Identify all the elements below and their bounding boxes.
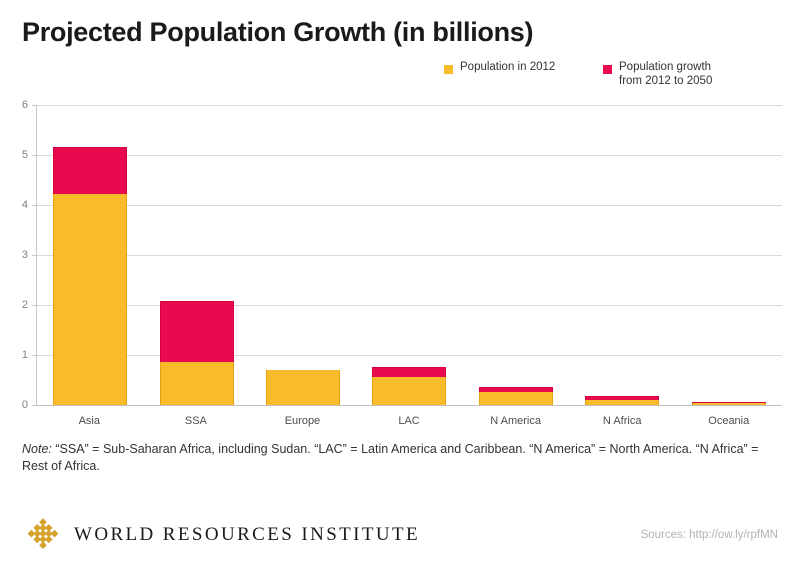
- bar-segment-growth[interactable]: [372, 367, 446, 377]
- bar-group[interactable]: [250, 105, 356, 405]
- bar-group[interactable]: [356, 105, 462, 405]
- legend-item-population-2012: Population in 2012: [444, 61, 555, 75]
- bar-segment-population[interactable]: [479, 392, 553, 406]
- chart-note: Note: “SSA” = Sub-Saharan Africa, includ…: [22, 441, 774, 474]
- bar-segment-population[interactable]: [692, 403, 766, 405]
- bar-group[interactable]: [676, 105, 782, 405]
- note-text: “SSA” = Sub-Saharan Africa, including Su…: [22, 442, 758, 473]
- y-axis: 0123456: [0, 105, 36, 405]
- bar-segment-population[interactable]: [266, 370, 340, 405]
- bar-segment-growth[interactable]: [160, 301, 234, 362]
- x-tick-label: Asia: [36, 407, 143, 427]
- bar-group[interactable]: [463, 105, 569, 405]
- bar-stack[interactable]: [585, 396, 659, 405]
- bar-stack[interactable]: [692, 402, 766, 405]
- legend-item-population-growth: Population growth from 2012 to 2050: [603, 61, 712, 88]
- bar-stack[interactable]: [266, 370, 340, 405]
- bar-stack[interactable]: [479, 387, 553, 405]
- legend-item-label: Population in 2012: [460, 61, 555, 75]
- bar-stack[interactable]: [160, 301, 234, 405]
- y-tick-label: 0: [22, 399, 28, 411]
- bar-segment-population[interactable]: [53, 194, 127, 406]
- bar-series: [37, 105, 782, 405]
- x-tick-label: Oceania: [675, 407, 782, 427]
- y-tick-label: 1: [22, 349, 28, 361]
- wri-wordmark: WORLD RESOURCES INSTITUTE: [74, 524, 420, 546]
- y-tick-label: 6: [22, 99, 28, 111]
- page-title: Projected Population Growth (in billions…: [22, 17, 533, 48]
- bar-segment-growth[interactable]: [53, 147, 127, 194]
- bar-group[interactable]: [569, 105, 675, 405]
- wri-diamond-lattice-icon: [26, 518, 60, 552]
- x-axis: AsiaSSAEuropeLACN AmericaN AfricaOceania: [36, 407, 782, 427]
- wri-logo: WORLD RESOURCES INSTITUTE: [26, 518, 420, 552]
- y-tick-label: 3: [22, 249, 28, 261]
- footer: WORLD RESOURCES INSTITUTE Sources: http:…: [0, 505, 800, 565]
- x-tick-label: N America: [462, 407, 569, 427]
- legend-square-icon: [444, 65, 453, 74]
- y-tick-label: 5: [22, 149, 28, 161]
- x-tick-label: SSA: [143, 407, 250, 427]
- note-label: Note:: [22, 442, 52, 456]
- y-tick-label: 4: [22, 199, 28, 211]
- x-tick-label: N Africa: [569, 407, 676, 427]
- y-tickmark: [32, 405, 37, 406]
- chart-plot: 0123456 AsiaSSAEuropeLACN AmericaN Afric…: [0, 105, 800, 435]
- bar-segment-population[interactable]: [160, 362, 234, 406]
- bar-stack[interactable]: [53, 147, 127, 406]
- chart-legend: Population in 2012 Population growth fro…: [440, 60, 780, 100]
- plot-area: [36, 105, 782, 405]
- x-tick-label: LAC: [356, 407, 463, 427]
- y-tick-label: 2: [22, 299, 28, 311]
- bar-stack[interactable]: [372, 367, 446, 405]
- bar-group[interactable]: [143, 105, 249, 405]
- legend-square-icon: [603, 65, 612, 74]
- bar-segment-population[interactable]: [585, 400, 659, 405]
- bar-group[interactable]: [37, 105, 143, 405]
- x-tick-label: Europe: [249, 407, 356, 427]
- bar-segment-population[interactable]: [372, 377, 446, 405]
- legend-item-label: Population growth from 2012 to 2050: [619, 61, 712, 88]
- sources-text: Sources: http://ow.ly/rpfMN: [641, 529, 778, 541]
- gridline: [37, 405, 782, 406]
